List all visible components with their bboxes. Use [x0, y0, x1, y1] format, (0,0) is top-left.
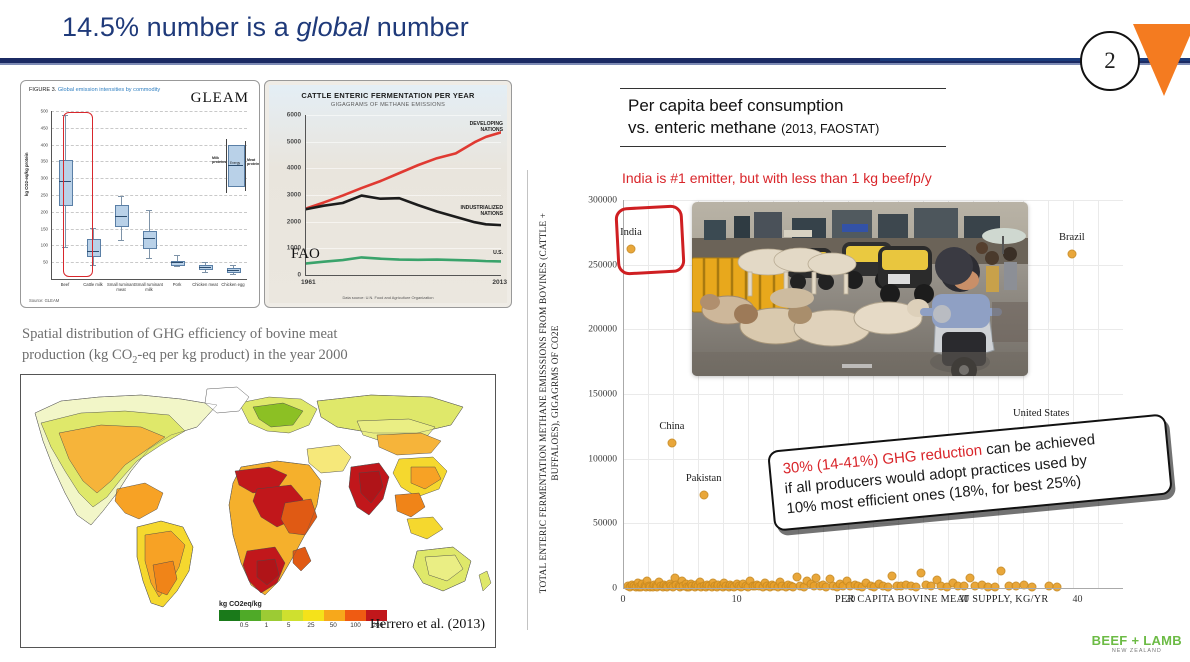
- gleam-median-line: [115, 216, 128, 217]
- right-panel-header-line2: vs. enteric methane (2013, FAOSTAT): [628, 117, 946, 139]
- gleam-median-line: [199, 267, 212, 268]
- scatter-y-tick: 0: [612, 583, 617, 594]
- gleam-y-tick: 450: [41, 125, 48, 130]
- scatter-point: [997, 566, 1006, 575]
- page-title-italic: global: [296, 12, 369, 42]
- scatter-point: [990, 582, 999, 591]
- right-panel-header-line1: Per capita beef consumption: [628, 95, 946, 117]
- gleam-median-line: [227, 270, 240, 271]
- scatter-point: [1028, 582, 1037, 591]
- legend-tick: 25: [300, 622, 322, 629]
- logo-line2: NEW ZEALAND: [1092, 648, 1182, 654]
- india-highlight-box: [614, 204, 685, 275]
- gleam-y-tick: 250: [41, 193, 48, 198]
- gleam-whisker-cap: [146, 258, 152, 259]
- gleam-chart-card: FIGURE 3. Global emission intensities by…: [20, 80, 260, 308]
- gleam-figure-label: FIGURE 3.: [29, 87, 56, 93]
- fao-y-tick: 0: [297, 272, 301, 279]
- gleam-y-tick: 350: [41, 159, 48, 164]
- legend-swatch: [282, 610, 303, 621]
- gleam-whisker-cap: [118, 240, 124, 241]
- scatter-point-brazil: [1067, 250, 1076, 259]
- gleam-y-tick: 150: [41, 226, 48, 231]
- gleam-whisker-cap: [146, 210, 152, 211]
- legend-tick: 50: [322, 622, 344, 629]
- scatter-y-tick: 50000: [593, 518, 617, 529]
- scatter-y-tick: 300000: [588, 195, 617, 206]
- scatter-y-tick: 150000: [588, 389, 617, 400]
- gleam-x-axis: [51, 279, 247, 280]
- scatter-y-tick: 250000: [588, 259, 617, 270]
- scatter-y-tick: 200000: [588, 324, 617, 335]
- gleam-whisker-cap: [174, 266, 180, 267]
- gleam-y-tick: 300: [41, 176, 48, 181]
- gleam-median-line: [143, 238, 156, 239]
- gleam-figure-caption: FIGURE 3. Global emission intensities by…: [29, 87, 160, 93]
- map-caption-line2: production (kg CO2-eq per kg product) in…: [22, 345, 492, 369]
- map-caption: Spatial distribution of GHG efficiency o…: [22, 324, 492, 369]
- scatter-x-tick: 40: [1073, 594, 1083, 605]
- slide-number-text: 2: [1104, 48, 1116, 74]
- scatter-y-axis-label: TOTAL ENTERIC FERMENTATION METHANE EMISS…: [539, 198, 562, 608]
- fao-label-developing: DEVELOPING NATIONS: [455, 122, 503, 134]
- scatter-x-axis: [623, 588, 1123, 589]
- fao-plot-area: 0100020003000400050006000DEVELOPING NATI…: [305, 115, 501, 275]
- gleam-figure-subtitle: Global emission intensities by commodity: [58, 87, 160, 93]
- logo-line1: BEEF + LAMB: [1092, 634, 1182, 647]
- gleam-whisker-cap: [118, 196, 124, 197]
- scatter-x-tick: 0: [621, 594, 626, 605]
- gleam-bracket-annotation: Milk proteinsMeat proteinsEnergy: [212, 139, 256, 205]
- fao-x-tick-end: 2013: [492, 279, 507, 286]
- photo-graphic: [692, 202, 1028, 376]
- fao-y-tick: 6000: [287, 112, 301, 119]
- gleam-whisker-cap: [202, 272, 208, 273]
- fao-label-industrialized: INDUSTRIALIZED NATIONS: [455, 206, 503, 218]
- legend-swatch: [261, 610, 282, 621]
- map-legend-title: kg CO2eq/kg: [219, 601, 389, 608]
- world-map-graphic: [21, 375, 495, 617]
- orange-triangle-decoration: [1133, 24, 1190, 96]
- gleam-x-tick: Chicken egg: [215, 283, 251, 288]
- scatter-point-pakistan: [699, 490, 708, 499]
- gleam-bracket-label-milk: Milk proteins: [212, 157, 225, 165]
- gleam-median-line: [171, 262, 184, 263]
- gleam-y-tick: 100: [41, 243, 48, 248]
- india-cattle-photo: [692, 202, 1028, 376]
- legend-tick: 0.5: [233, 622, 255, 629]
- gleam-whisker-cap: [174, 255, 180, 256]
- map-caption-line1: Spatial distribution of GHG efficiency o…: [22, 324, 492, 345]
- legend-tick: 5: [278, 622, 300, 629]
- legend-tick: 1: [255, 622, 277, 629]
- scatter-label-china: China: [659, 421, 684, 432]
- gleam-y-axis: [51, 111, 52, 279]
- world-map-card: kg CO2eq/kg 0.5152550100200 Herrero et a…: [20, 374, 496, 648]
- gleam-source-note: Source: GLEAM: [29, 298, 59, 303]
- right-panel-header-source: (2013, FAOSTAT): [781, 122, 879, 136]
- fao-source-note: Data source: U.N. Food and Agriculture O…: [269, 295, 507, 300]
- page-title-part1: 14.5% number is a: [62, 12, 296, 42]
- scatter-gridline-v: [1048, 200, 1049, 588]
- gleam-whisker-cap: [230, 265, 236, 266]
- scatter-label-brazil: Brazil: [1059, 232, 1085, 243]
- legend-tick: 100: [344, 622, 366, 629]
- gleam-whisker-cap: [230, 274, 236, 275]
- map-legend-colorbar: [219, 610, 387, 621]
- scatter-y-tick: 100000: [588, 453, 617, 464]
- legend-swatch: [219, 610, 240, 621]
- page-title-part2: number: [369, 12, 469, 42]
- india-emitter-note: India is #1 emitter, but with less than …: [622, 170, 932, 186]
- fao-y-tick: 5000: [287, 138, 301, 145]
- fao-chart-card: CATTLE ENTERIC FERMENTATION PER YEAR GIG…: [264, 80, 512, 308]
- fao-chart-subtitle: GIGAGRAMS OF METHANE EMISSIONS: [269, 102, 507, 108]
- legend-swatch: [345, 610, 366, 621]
- scatter-point: [1053, 582, 1062, 591]
- legend-swatch: [303, 610, 324, 621]
- fao-y-tick: 4000: [287, 165, 301, 172]
- right-panel-header: Per capita beef consumption vs. enteric …: [620, 88, 946, 147]
- gleam-y-tick: 50: [43, 260, 48, 265]
- fao-y-tick: 3000: [287, 192, 301, 199]
- gleam-y-axis-label: kg CO2-eq/kg protein: [24, 153, 29, 196]
- gleam-bracket-label-meat: Meat proteins: [247, 159, 260, 167]
- legend-swatch: [324, 610, 345, 621]
- fao-x-tick-start: 1961: [301, 279, 316, 286]
- scatter-x-tick: 10: [732, 594, 742, 605]
- gleam-watermark: GLEAM: [191, 90, 249, 107]
- slide-number-badge: 2: [1080, 31, 1140, 91]
- scatter-point: [888, 572, 897, 581]
- gleam-box: [143, 231, 158, 248]
- map-legend-ticks: 0.5152550100200: [219, 622, 389, 629]
- scatter-gridline-v: [1098, 200, 1099, 588]
- legend-swatch: [240, 610, 261, 621]
- scatter-point-china: [667, 439, 676, 448]
- scatter-point: [912, 582, 921, 591]
- gleam-y-tick: 200: [41, 209, 48, 214]
- gleam-beef-highlight-box: [63, 112, 93, 277]
- panel-divider: [527, 170, 528, 630]
- gleam-whisker-cap: [202, 262, 208, 263]
- gleam-y-tick: 400: [41, 142, 48, 147]
- gleam-bracket-label-energy: Energy: [230, 162, 240, 166]
- fao-watermark: FAO: [291, 246, 320, 263]
- fao-label-us: U.S.: [455, 251, 503, 257]
- fao-x-axis: [305, 275, 501, 276]
- scatter-point: [959, 582, 968, 591]
- map-legend: kg CO2eq/kg 0.5152550100200: [219, 601, 389, 629]
- gleam-y-tick: 500: [41, 109, 48, 114]
- page-title: 14.5% number is a global number: [62, 12, 469, 43]
- scatter-label-pakistan: Pakistan: [686, 473, 722, 484]
- scatter-x-axis-label: PER CAPITA BOVINE MEAT SUPPLY, KG/YR: [835, 594, 1049, 605]
- map-attribution: Herrero et al. (2013): [370, 617, 485, 633]
- fao-chart-background: CATTLE ENTERIC FERMENTATION PER YEAR GIG…: [269, 85, 507, 303]
- fao-y-tick: 2000: [287, 218, 301, 225]
- scatter-label-united-states: United States: [1013, 408, 1069, 419]
- scatter-point: [916, 568, 925, 577]
- fao-chart-title: CATTLE ENTERIC FERMENTATION PER YEAR: [269, 91, 507, 100]
- beef-lamb-nz-logo: BEEF + LAMB NEW ZEALAND: [1092, 634, 1182, 654]
